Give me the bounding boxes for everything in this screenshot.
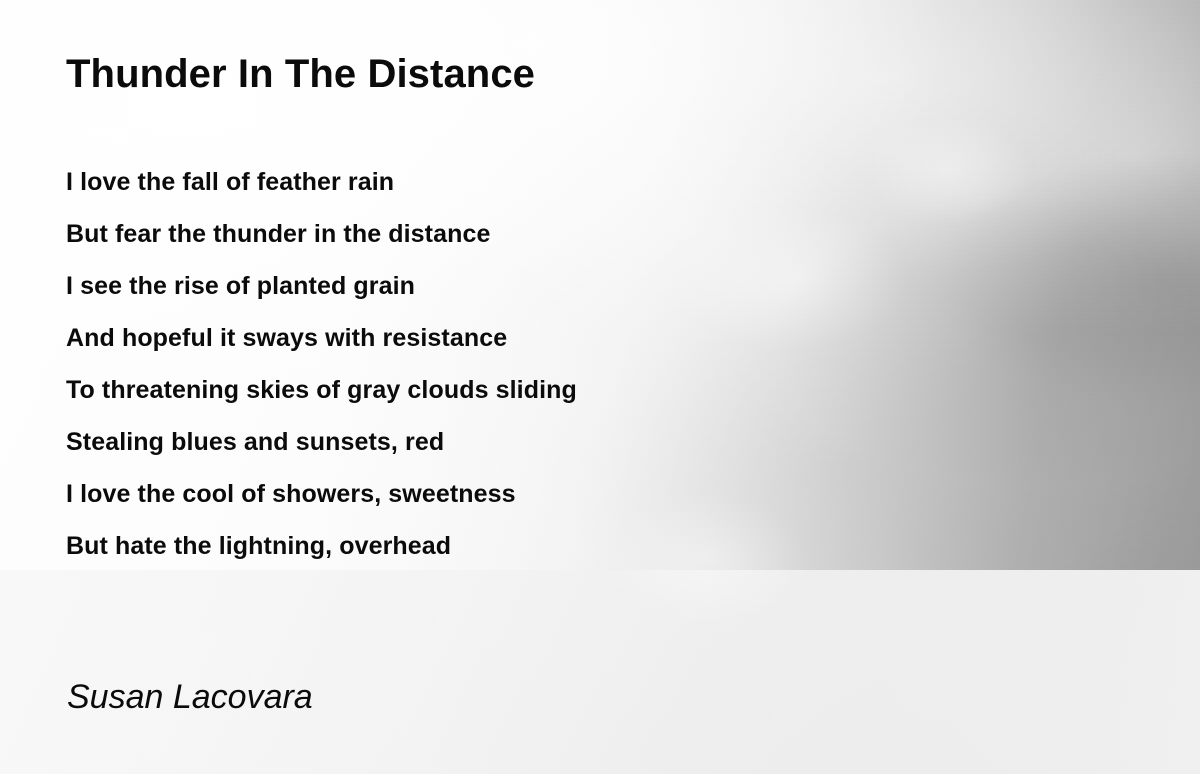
poem-line: Stealing blues and sunsets, red [66,416,577,468]
poem-image-card: Thunder In The Distance I love the fall … [0,0,1200,774]
poem-line: But hate the lightning, overhead [66,520,577,572]
poem-line: To threatening skies of gray clouds slid… [66,364,577,416]
poem-line: I love the fall of feather rain [66,156,577,208]
poem-line: I see the rise of planted grain [66,260,577,312]
poem-line: I love the cool of showers, sweetness [66,468,577,520]
poem-title: Thunder In The Distance [66,50,535,98]
poem-content: Thunder In The Distance I love the fall … [0,0,1200,774]
poem-body: I love the fall of feather rain But fear… [66,156,577,572]
poem-author-name: Susan Lacovara [67,676,313,718]
poem-line: And hopeful it sways with resistance [66,312,577,364]
poem-line: But fear the thunder in the distance [66,208,577,260]
